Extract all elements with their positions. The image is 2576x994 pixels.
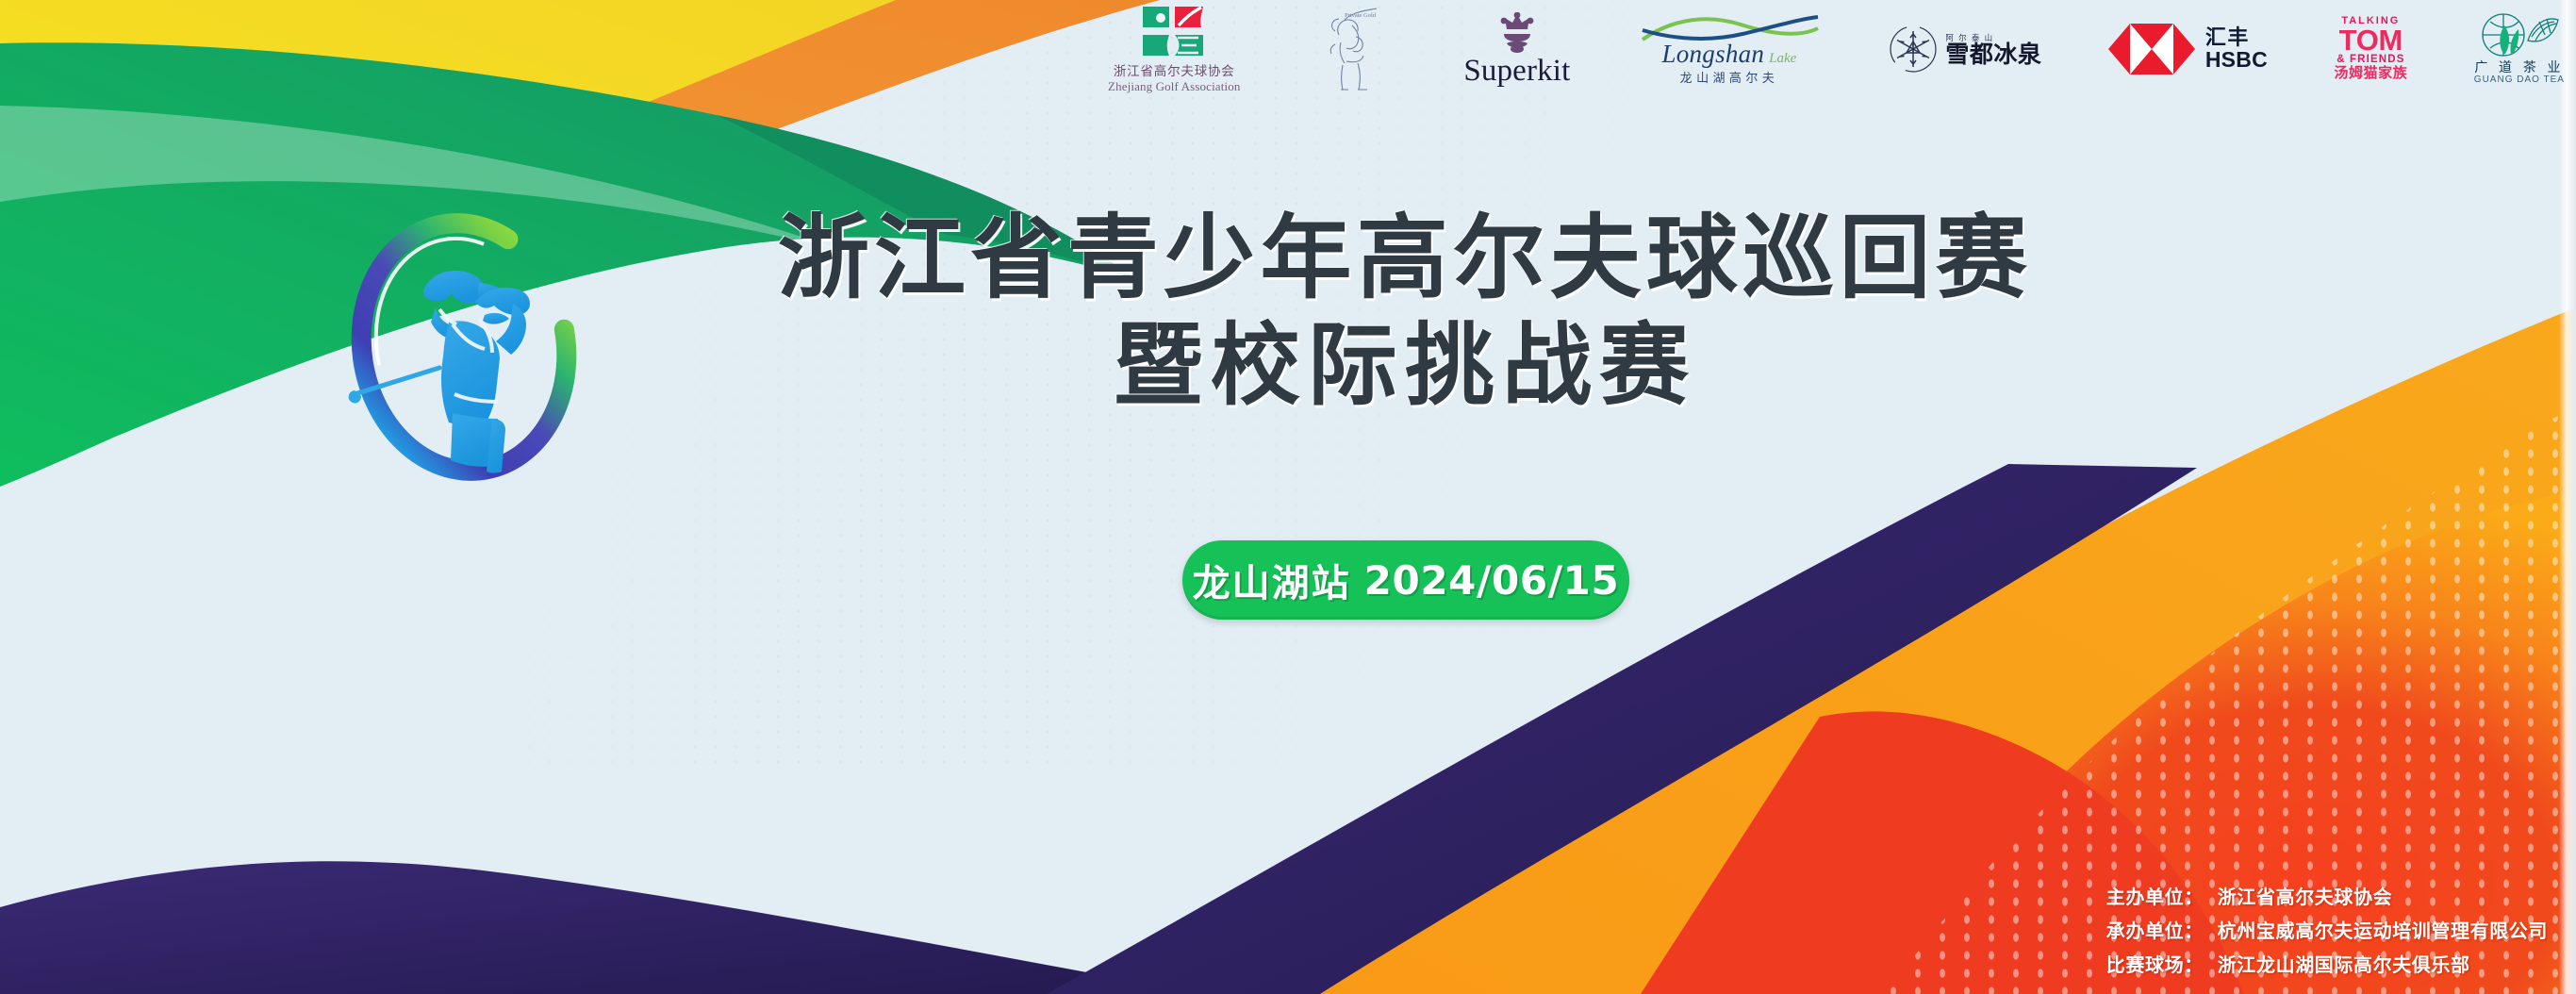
tom-chinese-name: 汤姆猫家族 [2334,65,2407,82]
badge-station-name: 龙山湖站 [1193,553,1351,607]
background-shapes [0,0,2576,994]
zga-english-name: Zhejiang Golf Association [1108,79,1240,94]
credit-value-venue: 浙江龙山湖国际高尔夫俱乐部 [2218,950,2470,977]
hsbc-wordmark: HSBC [2205,48,2268,71]
organizer-credits: 主办单位： 浙江省高尔夫球协会 承办单位： 杭州宝威高尔夫运动培训管理有限公司 … [2106,882,2548,977]
sponsor-logo-strip: 浙江省高尔夫球协会 Zhejiang Golf Association [1108,4,2565,94]
event-banner: 浙江省高尔夫球协会 Zhejiang Golf Association [0,0,2576,994]
credit-label-organizer: 主办单位： [2106,882,2218,909]
private-gold-golfer-icon: Private Gold [1307,7,1397,91]
sponsor-talking-tom-and-friends[interactable]: TALKING TOM & FRIENDS 汤姆猫家族 [2334,4,2407,94]
sponsor-xuedu-bingquan[interactable]: 阿尔泰山 雪都冰泉 [1888,4,2041,94]
badge-date-text: 2024/06/15 [1364,557,1620,604]
guangdao-chinese-name: 广 道 茶 业 [2474,59,2564,75]
credit-row-organizer: 主办单位： 浙江省高尔夫球协会 [2106,882,2548,909]
credit-row-venue: 比赛球场： 浙江龙山湖国际高尔夫俱乐部 [2106,950,2548,977]
credit-label-host: 承办单位： [2106,916,2218,943]
snowflake-compass-icon [1888,24,1939,75]
headline-line-1: 浙江省青少年高尔夫球巡回赛 [603,206,2206,310]
sponsor-guang-dao-tea[interactable]: 广 道 茶 业 GUANG DAO TEA [2474,4,2565,94]
longshan-chinese-name: 龙山湖高尔夫 [1680,68,1779,86]
headline-line-2: 暨校际挑战赛 [603,312,2206,420]
guangdao-english-name: GUANG DAO TEA [2474,75,2565,86]
sponsor-longshan-lake-golf[interactable]: Longshan Lake 龙山湖高尔夫 [1637,4,1822,94]
xuedu-chinese-name: 雪都冰泉 [1945,43,2041,67]
credit-value-host: 杭州宝威高尔夫运动培训管理有限公司 [2218,916,2548,943]
superkit-crown-icon [1494,12,1541,54]
hsbc-hexagon-icon [2108,22,2195,76]
tom-friends-label: & FRIENDS [2337,54,2404,66]
superkit-wordmark: Superkit [1463,56,1570,87]
sponsor-private-gold[interactable]: Private Gold [1307,4,1397,94]
hsbc-chinese-name: 汇丰 [2205,26,2268,48]
longshan-script-wordmark: Longshan [1661,41,1764,67]
zga-emblem-icon [1139,4,1209,58]
sponsor-superkit[interactable]: Superkit [1463,4,1570,94]
credit-row-host: 承办单位： 杭州宝威高尔夫运动培训管理有限公司 [2106,916,2548,943]
guangdao-tea-leaf-globe-icon [2479,12,2560,59]
background-artwork [0,0,2576,994]
tom-wordmark: TOM [2339,26,2403,54]
credit-value-organizer: 浙江省高尔夫球协会 [2218,882,2392,909]
svg-text:Private Gold: Private Gold [1345,12,1377,19]
zga-chinese-name: 浙江省高尔夫球协会 [1114,60,1235,79]
station-date-badge: 龙山湖站 2024/06/15 [1182,540,1629,620]
tour-golfer-emblem-icon [338,209,590,485]
longshan-lake-suffix: Lake [1769,51,1796,67]
sponsor-hsbc[interactable]: 汇丰 HSBC [2108,4,2268,94]
credit-label-venue: 比赛球场： [2106,950,2218,977]
banner-right-edge [2559,0,2576,994]
event-headline: 浙江省青少年高尔夫球巡回赛 暨校际挑战赛 [603,206,2206,420]
sponsor-zhejiang-golf-association[interactable]: 浙江省高尔夫球协会 Zhejiang Golf Association [1108,4,1240,94]
